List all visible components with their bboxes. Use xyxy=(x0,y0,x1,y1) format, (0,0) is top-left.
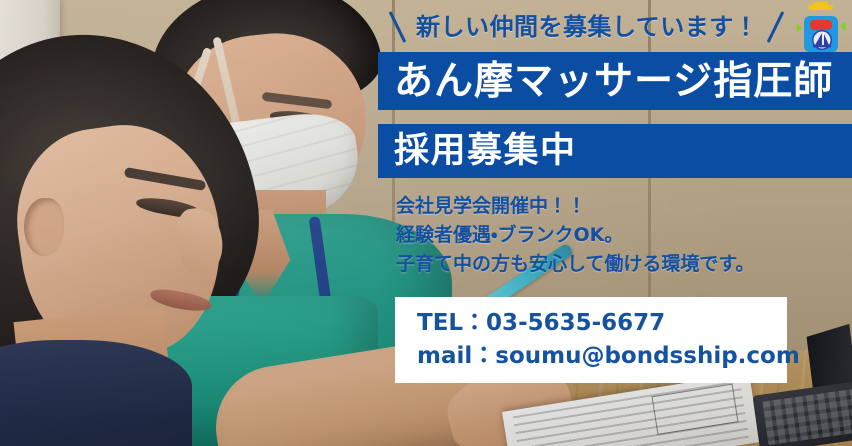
kicker-line: 新しい仲間を募集しています！ xyxy=(386,6,790,48)
copy-line-3: 子育て中の方も安心して働ける環境です。 xyxy=(396,250,852,279)
contact-card: TEL：03-5635-6677 mail：soumu@bondsship.co… xyxy=(395,297,787,383)
text-overlay: 新しい仲間を募集しています！ xyxy=(0,0,852,446)
recruitment-banner: 新しい仲間を募集しています！ xyxy=(0,0,852,446)
kicker-text: 新しい仲間を募集しています！ xyxy=(416,15,758,39)
telephone-text[interactable]: TEL：03-5635-6677 xyxy=(417,311,787,336)
recruiting-text: 採用募集中 xyxy=(378,134,577,169)
bonds-ship-mascot-icon xyxy=(795,2,847,57)
job-title-bar: あん摩マッサージ指圧師 xyxy=(378,52,852,110)
copy-line-2: 経験者優遇・ブランクOK。 xyxy=(396,221,852,250)
slash-right-icon xyxy=(764,10,788,44)
copy-line-1: 会社見学会開催中！！ xyxy=(396,192,852,221)
job-title-text: あん摩マッサージ指圧師 xyxy=(378,62,833,101)
recruiting-bar: 採用募集中 xyxy=(378,124,852,178)
email-text[interactable]: mail：soumu@bondsship.com xyxy=(417,344,787,369)
slash-left-icon xyxy=(386,10,410,44)
benefits-copy: 会社見学会開催中！！ 経験者優遇・ブランクOK。 子育て中の方も安心して働ける環… xyxy=(396,192,852,279)
